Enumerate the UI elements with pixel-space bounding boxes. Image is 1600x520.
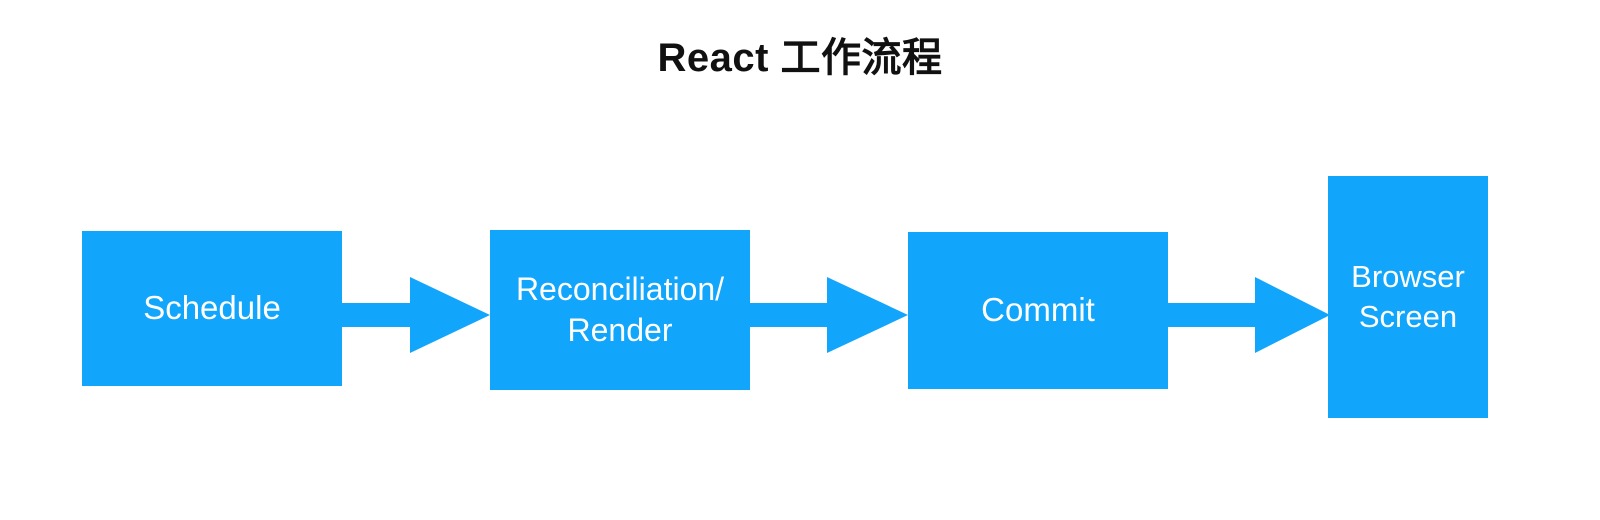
- arrow-right-icon: [750, 277, 908, 353]
- arrow-right-icon: [1168, 277, 1330, 353]
- diagram-canvas: React 工作流程 Schedule Reconciliation/ Rend…: [0, 0, 1600, 520]
- flow-node-commit[interactable]: Commit: [908, 232, 1168, 389]
- flow-node-label: Browser Screen: [1345, 257, 1471, 336]
- flow-node-label: Schedule: [137, 287, 287, 329]
- flow-node-schedule[interactable]: Schedule: [82, 231, 342, 386]
- page-title: React 工作流程: [0, 36, 1600, 80]
- flow-arrow-reconciliation-to-commit: [750, 277, 908, 353]
- flow-node-reconciliation-render[interactable]: Reconciliation/ Render: [490, 230, 750, 390]
- flow-arrow-schedule-to-reconciliation: [342, 277, 490, 353]
- flow-node-browser-screen[interactable]: Browser Screen: [1328, 176, 1488, 418]
- flow-node-label: Reconciliation/ Render: [510, 269, 730, 351]
- arrow-right-icon: [342, 277, 490, 353]
- flow-arrow-commit-to-browser-screen: [1168, 277, 1330, 353]
- flow-node-label: Commit: [975, 289, 1101, 331]
